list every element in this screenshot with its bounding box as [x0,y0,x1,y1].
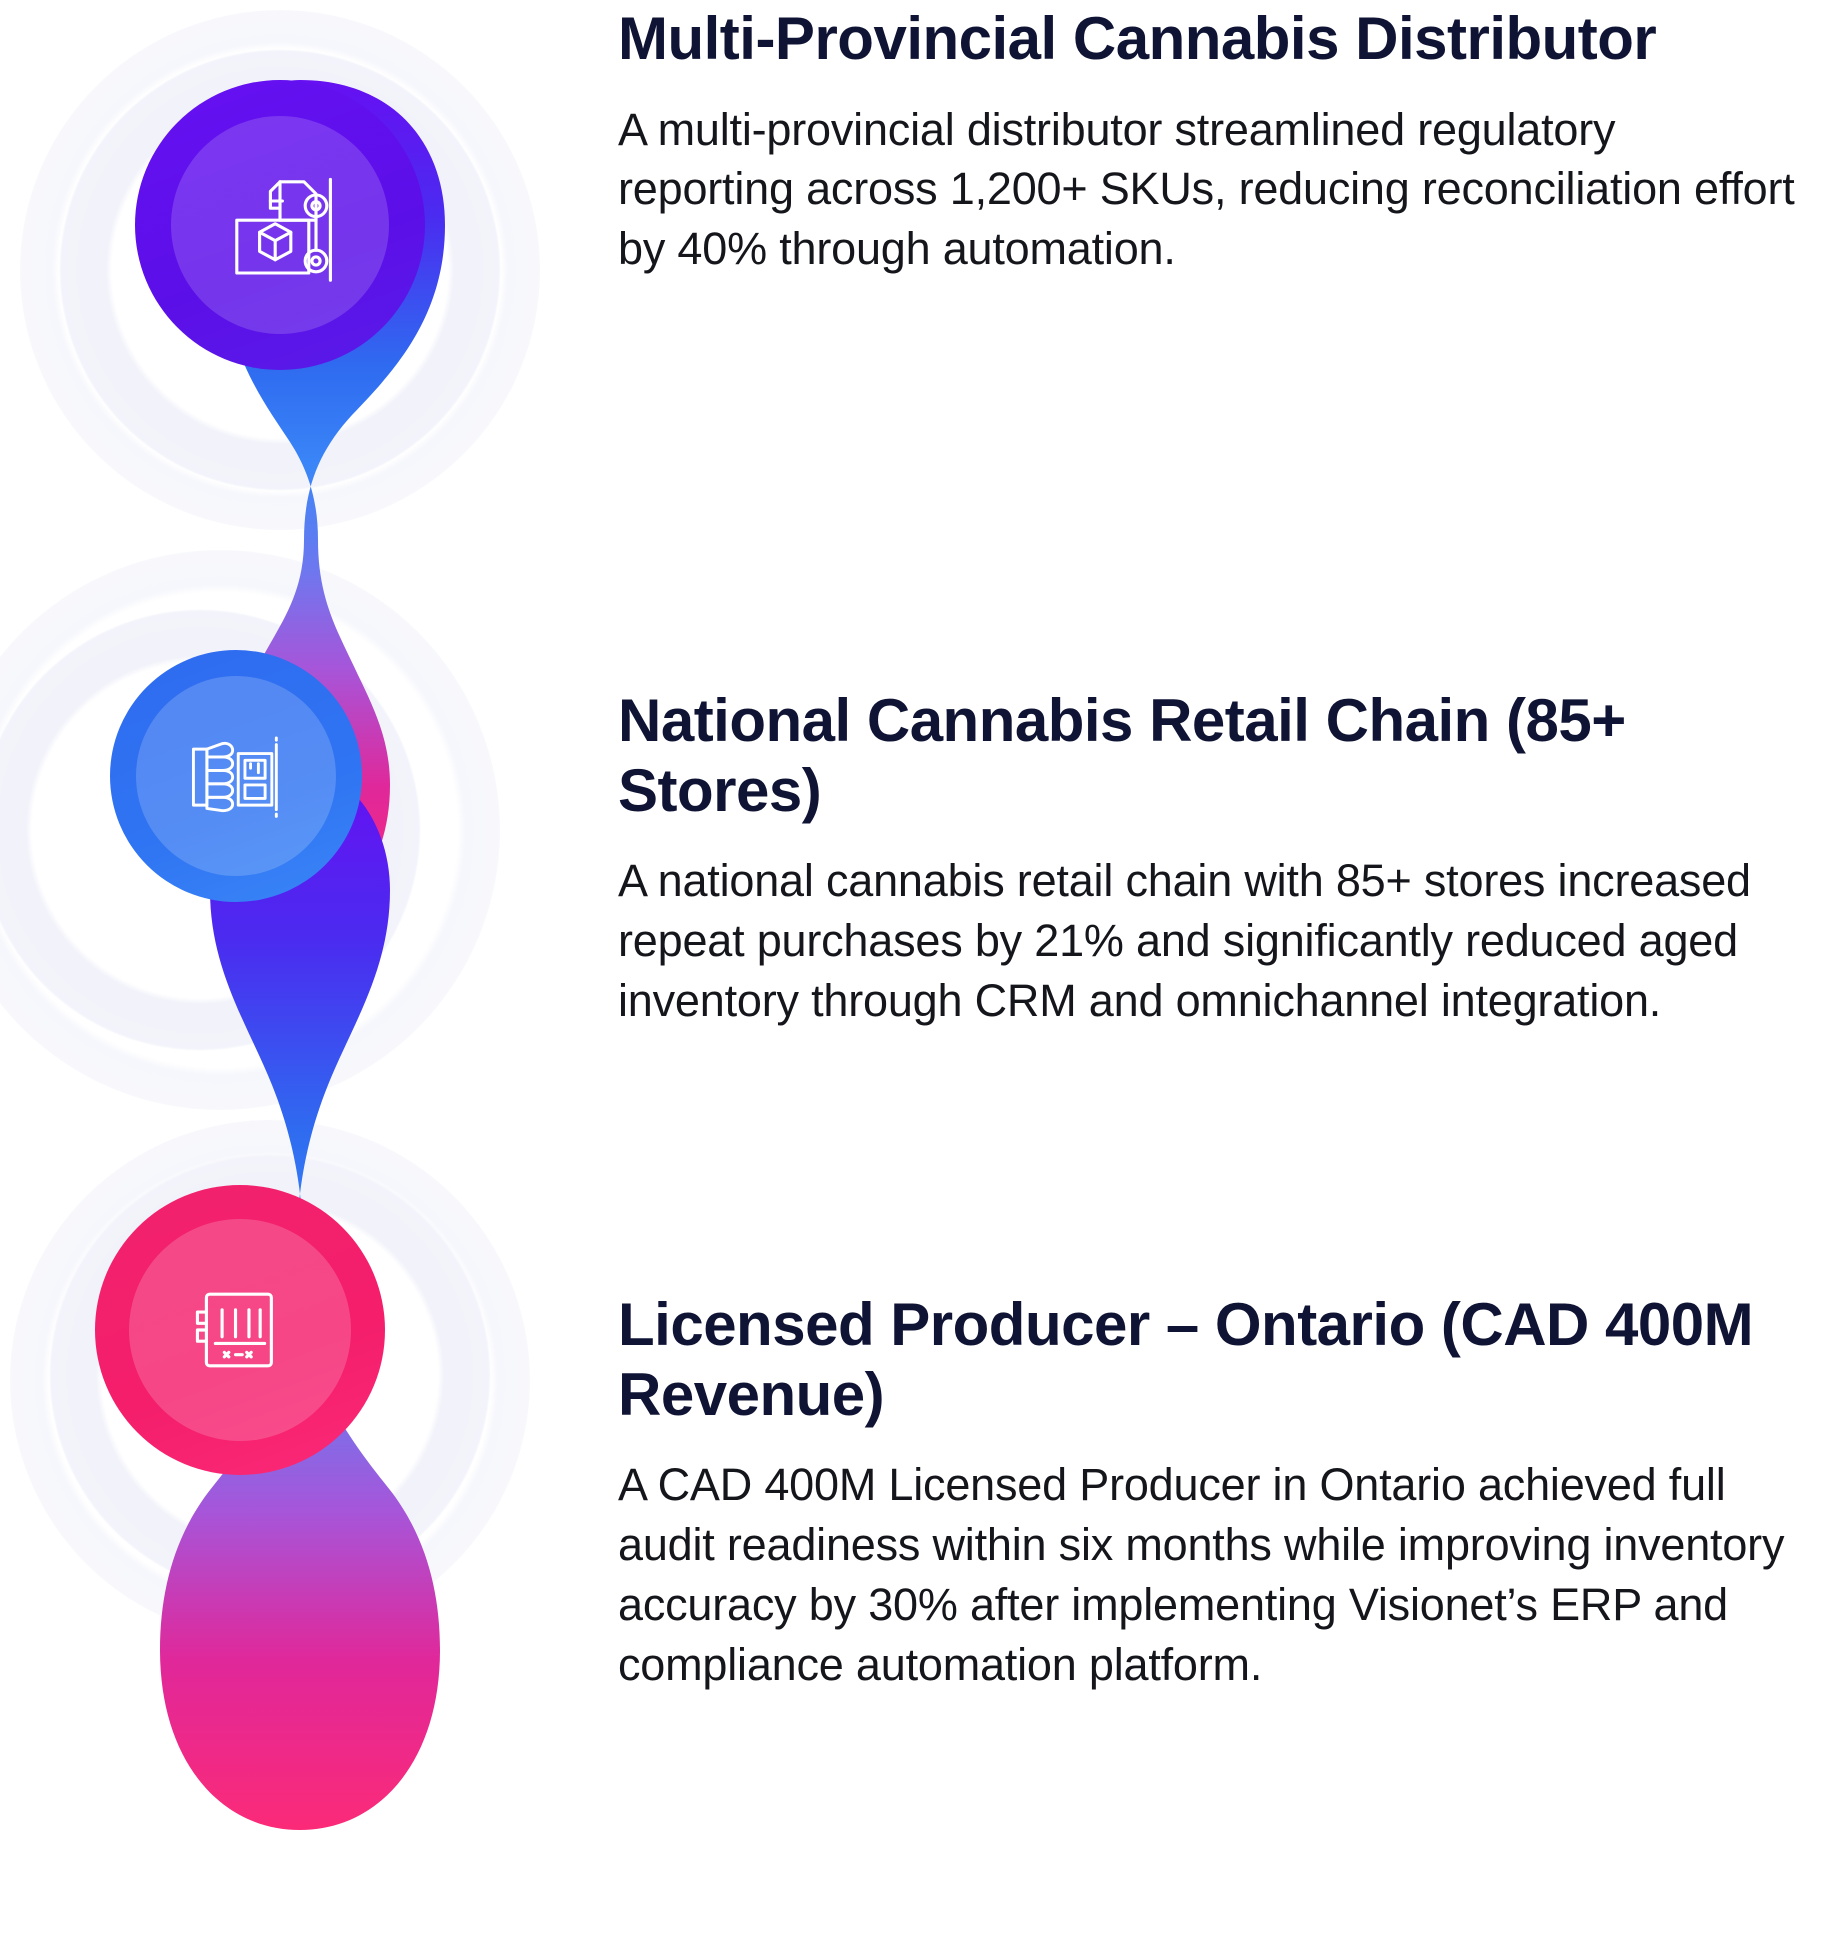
timeline-node-1-inner [171,116,389,334]
timeline-node-2-inner [136,676,336,876]
timeline-visual [0,0,600,1942]
timeline-node-3[interactable] [95,1185,385,1475]
delivery-truck-with-package-icon [220,165,340,285]
case-study-1: Multi-Provincial Cannabis Distributor A … [618,4,1798,279]
case-study-2-description: A national cannabis retail chain with 85… [618,851,1798,1031]
retail-store-shelf-icon [180,720,292,832]
timeline-node-1[interactable] [135,80,425,370]
case-study-1-description: A multi-provincial distributor streamlin… [618,100,1798,280]
case-study-3-title: Licensed Producer – Ontario (CAD 400M Re… [618,1290,1798,1429]
case-study-3-description: A CAD 400M Licensed Producer in Ontario … [618,1455,1798,1694]
case-studies-text-column: Multi-Provincial Cannabis Distributor A … [600,0,1846,1942]
case-studies-section: Multi-Provincial Cannabis Distributor A … [0,0,1846,1942]
timeline-node-2[interactable] [110,650,362,902]
case-study-2-title: National Cannabis Retail Chain (85+ Stor… [618,686,1798,825]
compliance-document-icon [184,1274,296,1386]
case-study-3: Licensed Producer – Ontario (CAD 400M Re… [618,1290,1798,1695]
case-study-2: National Cannabis Retail Chain (85+ Stor… [618,686,1798,1031]
case-study-1-title: Multi-Provincial Cannabis Distributor [618,4,1798,74]
timeline-node-3-inner [129,1219,351,1441]
